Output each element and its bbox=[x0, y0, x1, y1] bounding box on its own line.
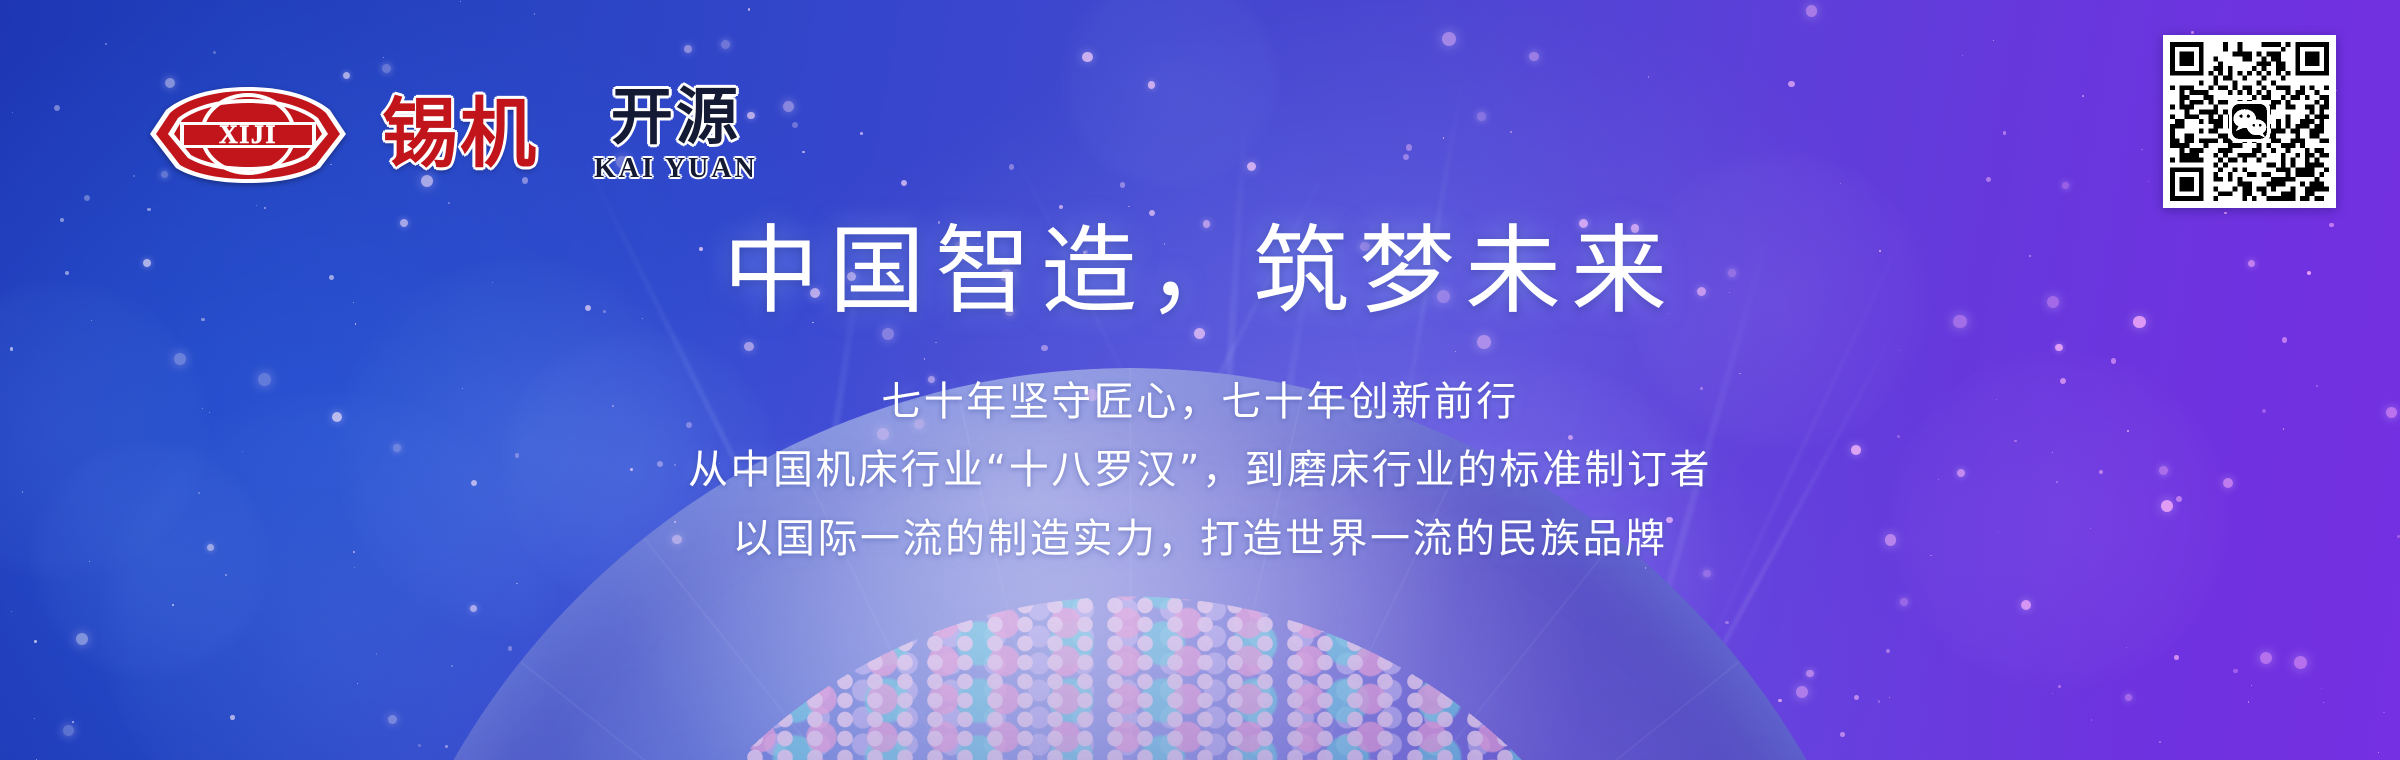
qr-code-icon bbox=[2170, 42, 2329, 201]
wechat-qr-code[interactable] bbox=[2163, 35, 2336, 208]
hero-sublines: 七十年坚守匠心，七十年创新前行 从中国机床行业“十八罗汉”，到磨床行业的标准制订… bbox=[0, 368, 2400, 574]
hero-banner: XIJI 锡机 开源 KAI YUAN 中国智造，筑梦未来 七十年坚守匠心，七十… bbox=[0, 0, 2400, 760]
sub-brand-cn: 开源 bbox=[611, 86, 741, 148]
hero-subline: 从中国机床行业“十八罗汉”，到磨床行业的标准制订者 bbox=[0, 436, 2400, 505]
hero-headline: 中国智造，筑梦未来 bbox=[0, 218, 2400, 326]
hero-subline: 七十年坚守匠心，七十年创新前行 bbox=[0, 368, 2400, 437]
svg-text:XIJI: XIJI bbox=[219, 120, 277, 149]
hero-subline: 以国际一流的制造实力，打造世界一流的民族品牌 bbox=[0, 505, 2400, 574]
xiji-shield-badge-icon: XIJI bbox=[150, 82, 346, 186]
light-sweep-upper bbox=[564, 0, 2135, 676]
brand-logo-lockup[interactable]: XIJI 锡机 开源 KAI YUAN bbox=[150, 78, 758, 190]
sub-brand-en: KAI YUAN bbox=[594, 155, 758, 183]
hero-copy: 中国智造，筑梦未来 七十年坚守匠心，七十年创新前行 从中国机床行业“十八罗汉”，… bbox=[0, 218, 2400, 574]
sub-brand-lockup: 开源 KAI YUAN bbox=[594, 86, 758, 183]
brand-name-cn: 锡机 bbox=[382, 96, 538, 172]
